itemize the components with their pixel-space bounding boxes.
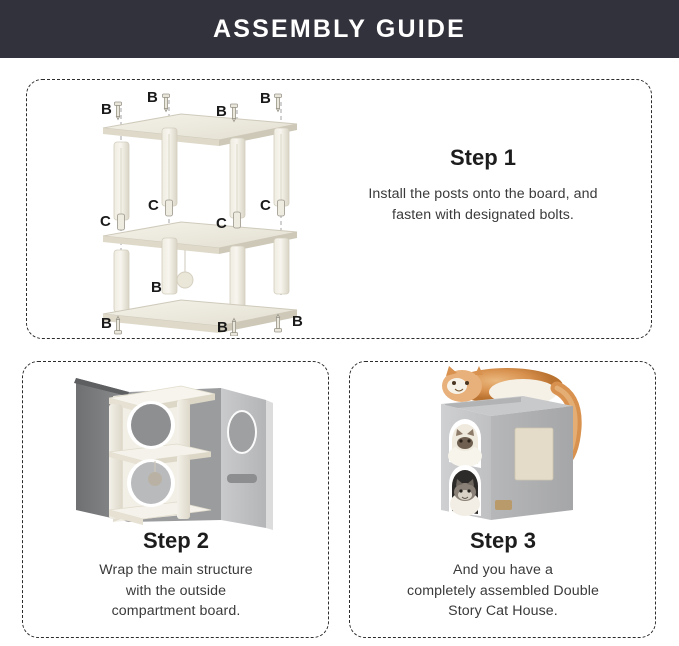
ball-toy: [177, 250, 193, 288]
middle-board: [103, 222, 297, 254]
callout-label-b-top-back-left: B: [147, 90, 158, 105]
step3-illustration: [405, 364, 605, 536]
callout-label-b-bottom-front-left: B: [101, 316, 112, 331]
step3-title: Step 3: [358, 529, 648, 553]
top-board: [103, 114, 297, 146]
exploded-cat-tree-svg: [85, 88, 315, 336]
callout-label-c-mid-front-right: C: [216, 216, 227, 231]
header-bar: ASSEMBLY GUIDE: [0, 0, 679, 58]
callout-label-c-mid-back-left: C: [148, 198, 159, 213]
callout-label-b-bottom-front-right: B: [292, 314, 303, 329]
callout-label-b-bottom-center: B: [217, 320, 228, 335]
cat-tower-wrap-svg: [51, 370, 306, 530]
step2-description-line-2: with the outside: [31, 581, 321, 602]
step1-illustration: B B B B C C C C B B B B: [85, 88, 315, 336]
step-panel-3: Step 3 And you have a completely assembl…: [349, 361, 656, 638]
step1-description-line-2: fasten with designated bolts.: [327, 205, 639, 226]
step-panel-1: B B B B C C C C B B B B Step 1 Install t…: [26, 79, 652, 339]
page-title: ASSEMBLY GUIDE: [213, 17, 466, 42]
step3-text-block: Step 3 And you have a completely assembl…: [358, 529, 648, 622]
step2-description-line-3: compartment board.: [31, 601, 321, 622]
step3-description-line-2: completely assembled Double: [358, 581, 648, 602]
finished-cat-house-svg: [405, 364, 605, 536]
step-panel-2: Step 2 Wrap the main structure with the …: [22, 361, 329, 638]
step2-illustration: [51, 370, 306, 530]
step1-text-block: Step 1 Install the posts onto the board,…: [327, 146, 639, 225]
bottom-board: [103, 300, 297, 333]
step3-description-line-1: And you have a: [358, 560, 648, 581]
callout-label-b-top-back-right: B: [260, 91, 271, 106]
brand-logo-tag: [495, 500, 512, 510]
callout-label-b-top-front-left: B: [101, 102, 112, 117]
step2-text-block: Step 2 Wrap the main structure with the …: [31, 529, 321, 622]
step2-title: Step 2: [31, 529, 321, 553]
step3-description-line-3: Story Cat House.: [358, 601, 648, 622]
callout-label-b-top-front-right: B: [216, 104, 227, 119]
step2-description-line-1: Wrap the main structure: [31, 560, 321, 581]
callout-label-c-mid-back-right: C: [260, 198, 271, 213]
felt-panel-right: [221, 388, 273, 530]
cat-house-box: [441, 396, 573, 520]
callout-label-b-bottom-back-left: B: [151, 280, 162, 295]
scratching-pad: [515, 428, 553, 480]
step1-title: Step 1: [327, 146, 639, 170]
callout-label-c-mid-front-left: C: [100, 214, 111, 229]
step1-description-line-1: Install the posts onto the board, and: [327, 184, 639, 205]
